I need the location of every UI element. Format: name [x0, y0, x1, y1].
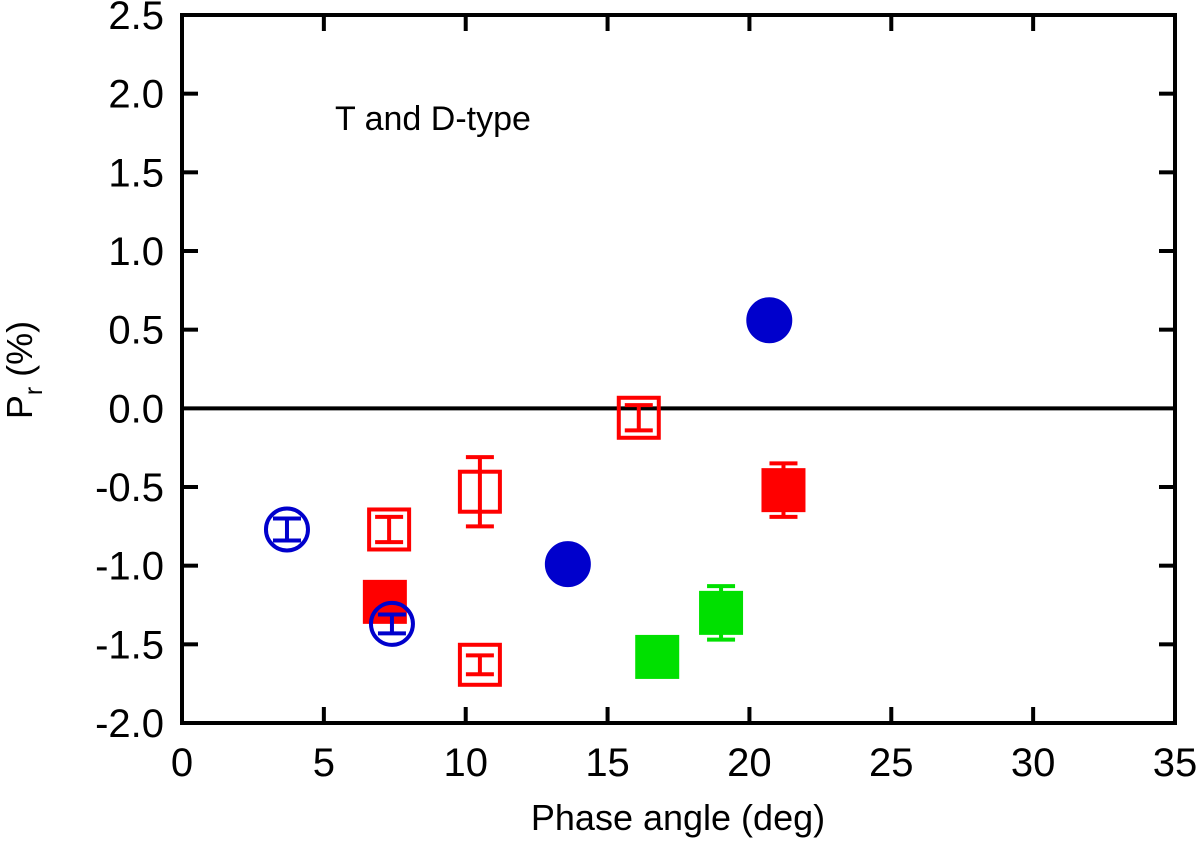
marker-square-filled[interactable]: [763, 470, 803, 510]
data-point[interactable]: [701, 586, 741, 639]
y-tick-label: -0.5: [95, 466, 164, 510]
chart-annotation-label: T and D-type: [335, 100, 531, 138]
x-tick-label: 0: [171, 741, 193, 785]
x-tick-label: 10: [443, 741, 488, 785]
data-point[interactable]: [748, 299, 790, 341]
x-tick-label: 15: [585, 741, 630, 785]
y-tick-label: 0.5: [108, 309, 164, 353]
marker-square-filled[interactable]: [637, 637, 677, 677]
y-axis-title-subscript: r: [20, 387, 48, 395]
y-tick-label: 2.0: [108, 73, 164, 117]
marker-square-filled[interactable]: [701, 593, 741, 633]
polarization-phase-angle-chart: 05101520253035 2.52.01.51.00.50.0-0.5-1.…: [0, 0, 1200, 843]
marker-circle-filled[interactable]: [547, 543, 589, 585]
y-tick-label: 2.5: [108, 0, 164, 38]
x-axis-title: Phase angle (deg): [531, 797, 825, 838]
y-tick-label: 1.0: [108, 230, 164, 274]
y-tick-label: -1.0: [95, 545, 164, 589]
y-tick-label: 1.5: [108, 151, 164, 195]
y-axis-title-base: P: [0, 395, 40, 419]
x-tick-label: 30: [1011, 741, 1056, 785]
x-tick-label: 5: [313, 741, 335, 785]
x-tick-label: 20: [727, 741, 772, 785]
marker-circle-filled[interactable]: [748, 299, 790, 341]
y-tick-label: -2.0: [95, 702, 164, 746]
chart-canvas: 05101520253035 2.52.01.51.00.50.0-0.5-1.…: [0, 0, 1200, 843]
y-tick-label: -1.5: [95, 623, 164, 667]
x-tick-label: 25: [869, 741, 914, 785]
data-point[interactable]: [547, 543, 589, 585]
data-point[interactable]: [637, 637, 677, 677]
y-tick-label: 0.0: [108, 387, 164, 431]
x-tick-label: 35: [1153, 741, 1198, 785]
y-axis-title-unit: (%): [0, 321, 40, 387]
data-point[interactable]: [763, 463, 803, 516]
